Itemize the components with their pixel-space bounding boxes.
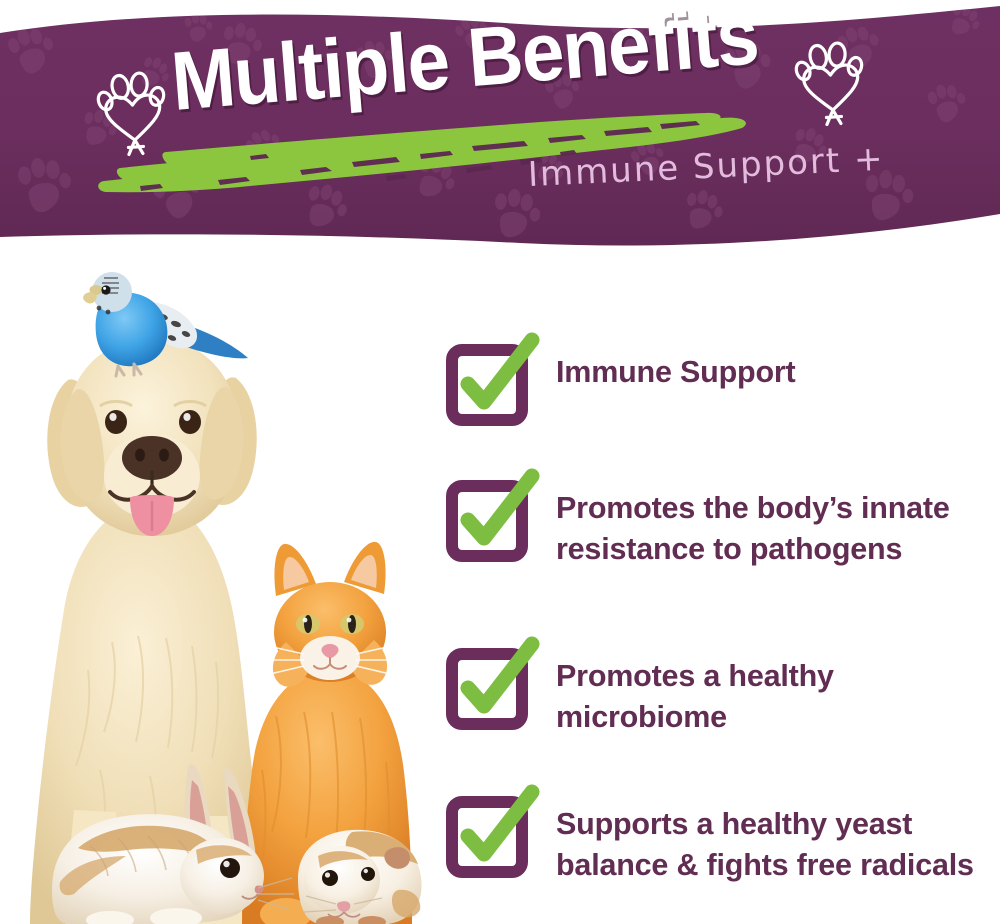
benefit-text: Supports a healthy yeast balance & fight…: [556, 798, 976, 886]
benefit-item: Supports a healthy yeast balance & fight…: [448, 798, 988, 886]
header-banner: Multiple Benefits Immune Support +: [0, 0, 1000, 250]
checkbox-checked-icon: [448, 798, 526, 874]
animal-photo-group: [0, 250, 450, 924]
banner-wave-shape: [0, 0, 1000, 250]
benefit-text: Promotes the body’s innate resistance to…: [556, 482, 976, 570]
checkbox-checked-icon: [448, 482, 526, 558]
benefit-item: Promotes a healthy microbiome: [448, 650, 988, 738]
benefit-item: Promotes the body’s innate resistance to…: [448, 482, 988, 570]
product-benefits-graphic: Multiple Benefits Immune Support +: [0, 0, 1000, 924]
checkbox-checked-icon: [448, 650, 526, 726]
benefit-text: Promotes a healthy microbiome: [556, 650, 976, 738]
benefit-text: Immune Support: [556, 346, 796, 393]
benefit-item: Immune Support: [448, 346, 988, 422]
checkbox-checked-icon: [448, 346, 526, 422]
